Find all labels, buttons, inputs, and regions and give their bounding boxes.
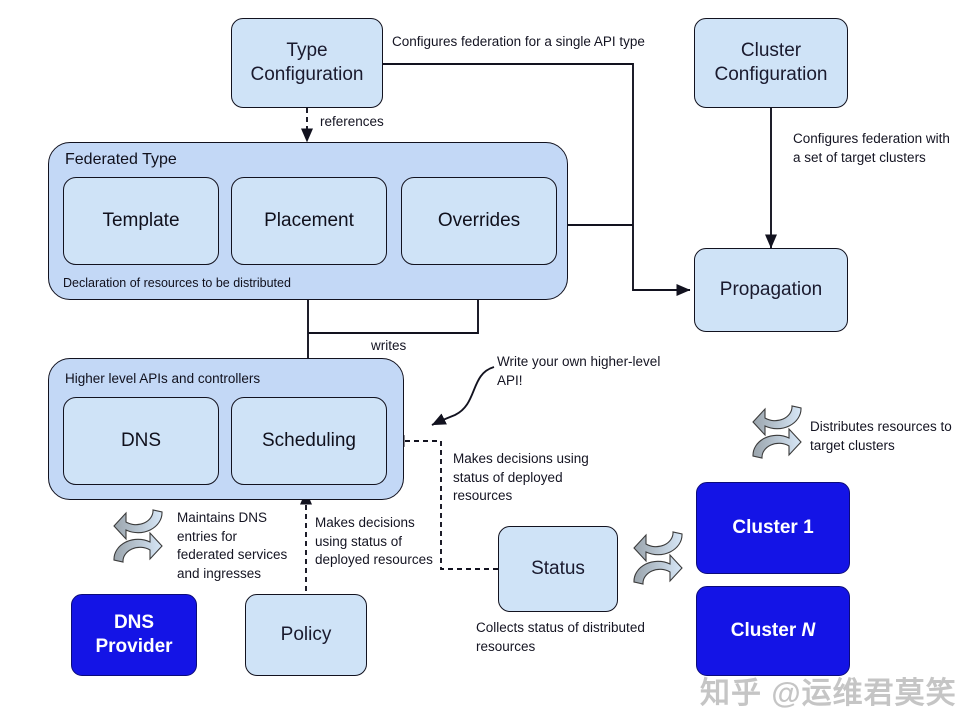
inner-box-scheduling[interactable]: Scheduling — [231, 397, 387, 485]
node-cluster-n-label: Cluster N — [731, 619, 815, 643]
node-policy-label: Policy — [281, 623, 332, 647]
diagram-canvas: Type Configuration Cluster Configuration… — [0, 0, 960, 720]
sync-cycle-icon-dns — [114, 510, 162, 562]
node-propagation-label: Propagation — [720, 278, 822, 302]
inner-box-template-label: Template — [102, 210, 179, 232]
node-cluster-configuration-label: Cluster Configuration — [714, 39, 827, 87]
edge-label-writes: writes — [371, 338, 406, 353]
note-write-your-own-api: Write your own higher-level API! — [497, 353, 660, 390]
node-policy[interactable]: Policy — [245, 594, 367, 676]
node-cluster-configuration[interactable]: Cluster Configuration — [694, 18, 848, 108]
edge-label-references: references — [320, 114, 384, 129]
group-federated-type-title: Federated Type — [65, 151, 177, 169]
node-cluster-1-label: Cluster 1 — [732, 516, 813, 540]
group-higher-level-apis: Higher level APIs and controllers DNS Sc… — [48, 358, 404, 500]
edge-label-configures-single-api: Configures federation for a single API t… — [392, 34, 645, 49]
node-dns-provider-label: DNS Provider — [95, 611, 172, 659]
note-configures-with-clusters: Configures federation with a set of targ… — [793, 130, 950, 167]
inner-box-dns[interactable]: DNS — [63, 397, 219, 485]
note-makes-decisions-policy: Makes decisions using status of deployed… — [315, 514, 433, 570]
inner-box-overrides-label: Overrides — [438, 210, 520, 232]
node-type-configuration-label: Type Configuration — [250, 39, 363, 87]
node-cluster-1[interactable]: Cluster 1 — [696, 482, 850, 574]
note-makes-decisions-status-deployed: Makes decisions using status of deployed… — [453, 450, 589, 506]
node-status-label: Status — [531, 557, 585, 581]
inner-box-placement-label: Placement — [264, 210, 354, 232]
inner-box-scheduling-label: Scheduling — [262, 430, 356, 452]
node-cluster-n-italic: N — [802, 620, 816, 641]
group-federated-type-footer: Declaration of resources to be distribut… — [63, 276, 291, 290]
node-dns-provider[interactable]: DNS Provider — [71, 594, 197, 676]
group-federated-type: Federated Type Template Placement Overri… — [48, 142, 568, 300]
note-collects-status: Collects status of distributed resources — [476, 619, 645, 656]
watermark-text: 知乎 @运维君莫笑 — [700, 668, 957, 712]
node-cluster-n[interactable]: Cluster N — [696, 586, 850, 676]
node-status[interactable]: Status — [498, 526, 618, 612]
node-propagation[interactable]: Propagation — [694, 248, 848, 332]
note-distributes-resources: Distributes resources to target clusters — [810, 418, 952, 455]
inner-box-placement[interactable]: Placement — [231, 177, 387, 265]
node-type-configuration[interactable]: Type Configuration — [231, 18, 383, 108]
note-maintains-dns: Maintains DNS entries for federated serv… — [177, 509, 287, 584]
group-higher-level-apis-title: Higher level APIs and controllers — [65, 371, 260, 386]
node-cluster-n-prefix: Cluster — [731, 620, 802, 641]
sync-cycle-icon-clusters — [753, 406, 801, 458]
inner-box-template[interactable]: Template — [63, 177, 219, 265]
sync-cycle-icon-status — [634, 532, 682, 584]
inner-box-overrides[interactable]: Overrides — [401, 177, 557, 265]
inner-box-dns-label: DNS — [121, 430, 161, 452]
